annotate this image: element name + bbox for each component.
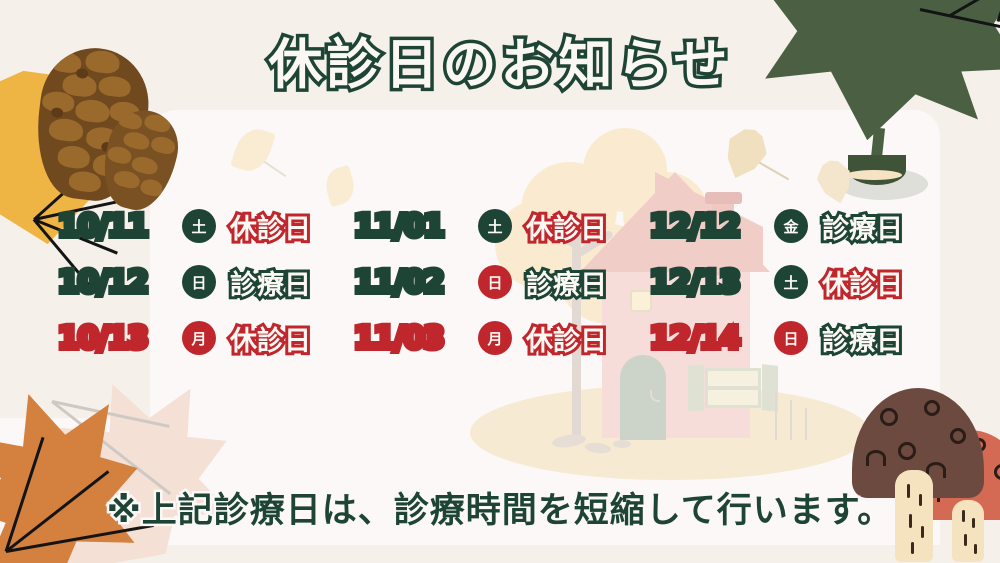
page-title: 休診日のお知らせ bbox=[0, 20, 1000, 99]
weekday-badge: 日 bbox=[182, 265, 216, 299]
twig-icon bbox=[805, 408, 807, 440]
schedule-date: 10/13 bbox=[58, 321, 182, 356]
schedule-status: 休診日 bbox=[230, 319, 311, 358]
schedule-row: 11/01 土 休診日 bbox=[354, 205, 650, 247]
poster-canvas: 休診日のお知らせ 10/11 土 休診日 11/01 土 休診日 12/12 金… bbox=[0, 0, 1000, 563]
stone-icon bbox=[613, 440, 631, 448]
schedule-status: 診療日 bbox=[230, 263, 311, 302]
window-bar-icon bbox=[705, 386, 761, 390]
schedule-date: 11/02 bbox=[354, 265, 478, 300]
schedule-status: 休診日 bbox=[526, 207, 607, 246]
weekday-badge: 日 bbox=[774, 321, 808, 355]
leaf-stem-icon bbox=[264, 161, 287, 177]
weekday-badge: 金 bbox=[774, 209, 808, 243]
schedule-status: 休診日 bbox=[526, 319, 607, 358]
weekday-badge: 月 bbox=[478, 321, 512, 355]
schedule-date: 10/12 bbox=[58, 265, 182, 300]
schedule-row: 12/14 日 診療日 bbox=[650, 317, 946, 359]
weekday-badge: 月 bbox=[182, 321, 216, 355]
schedule-grid: 10/11 土 休診日 11/01 土 休診日 12/12 金 診療日 10/1… bbox=[58, 205, 948, 359]
weekday-badge: 土 bbox=[182, 209, 216, 243]
schedule-status: 診療日 bbox=[822, 207, 903, 246]
footer-note: ※上記診療日は、診療時間を短縮して行います。 bbox=[0, 482, 1000, 533]
autumn-leaf-icon bbox=[230, 124, 276, 176]
schedule-status: 休診日 bbox=[230, 207, 311, 246]
autumn-leaf-icon bbox=[322, 165, 359, 207]
schedule-row: 12/12 金 診療日 bbox=[650, 205, 946, 247]
acorn-highlight-icon bbox=[846, 170, 902, 180]
schedule-status: 診療日 bbox=[822, 319, 903, 358]
schedule-status: 診療日 bbox=[526, 263, 607, 302]
twig-icon bbox=[790, 400, 792, 440]
schedule-row: 11/02 日 診療日 bbox=[354, 261, 650, 303]
schedule-date: 12/12 bbox=[650, 209, 774, 244]
window-shutter-icon bbox=[688, 364, 704, 412]
schedule-date: 12/14 bbox=[650, 321, 774, 356]
schedule-status: 休診日 bbox=[822, 263, 903, 302]
weekday-badge: 土 bbox=[478, 209, 512, 243]
schedule-date: 10/11 bbox=[58, 209, 182, 244]
schedule-row: 10/12 日 診療日 bbox=[58, 261, 354, 303]
schedule-row: 12/13 土 休診日 bbox=[650, 261, 946, 303]
schedule-row: 10/13 月 休診日 bbox=[58, 317, 354, 359]
weekday-badge: 土 bbox=[774, 265, 808, 299]
weekday-badge: 日 bbox=[478, 265, 512, 299]
schedule-row: 11/03 月 休診日 bbox=[354, 317, 650, 359]
twig-icon bbox=[775, 390, 777, 440]
schedule-date: 12/13 bbox=[650, 265, 774, 300]
schedule-date: 11/03 bbox=[354, 321, 478, 356]
schedule-row: 10/11 土 休診日 bbox=[58, 205, 354, 247]
schedule-date: 11/01 bbox=[354, 209, 478, 244]
